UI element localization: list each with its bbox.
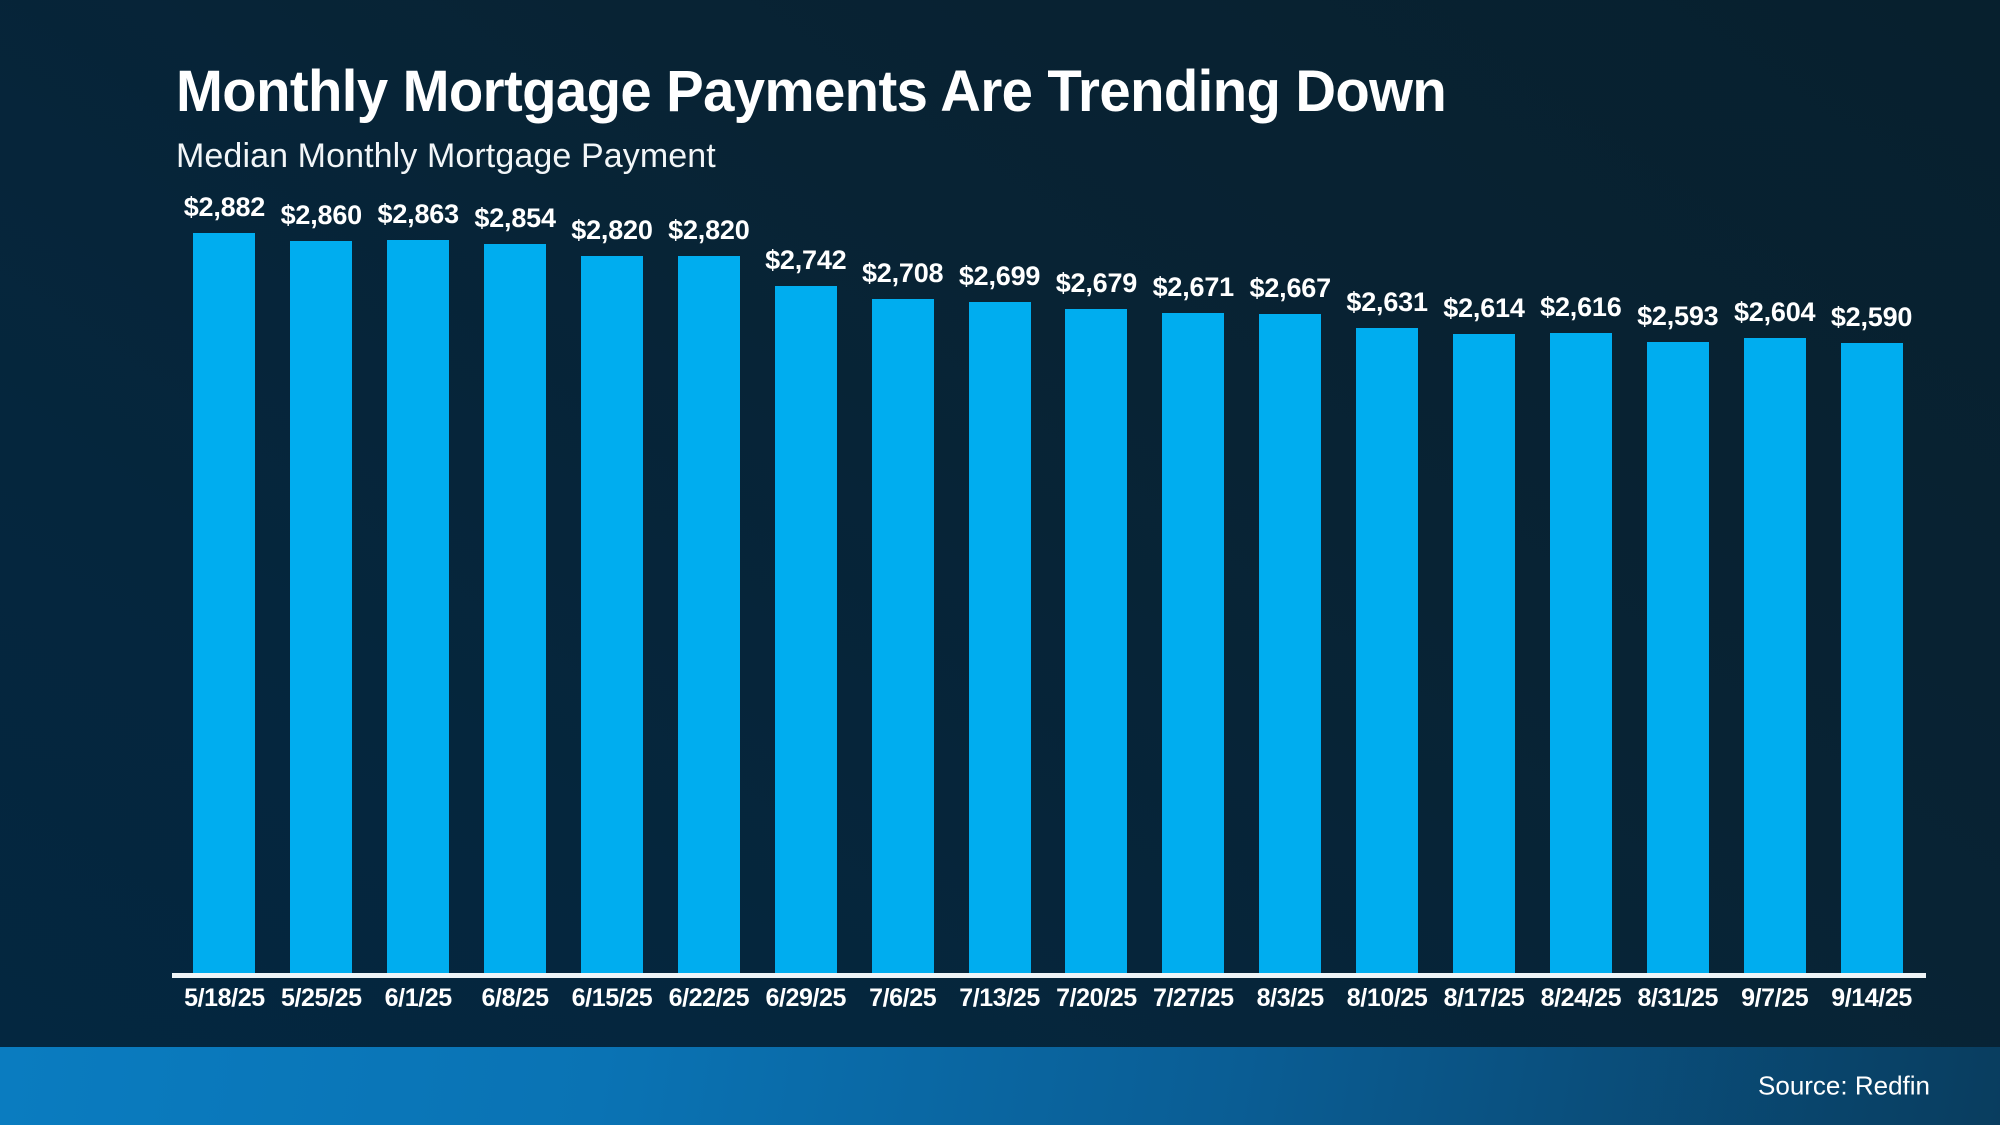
x-axis-line — [172, 973, 1926, 978]
bar[interactable] — [1744, 338, 1806, 975]
bar[interactable] — [969, 302, 1031, 975]
bar[interactable] — [1162, 313, 1224, 976]
bar-value-label: $2,742 — [765, 245, 846, 276]
bar-value-label: $2,679 — [1056, 268, 1137, 299]
bar-value-label: $2,604 — [1734, 297, 1815, 328]
bar-value-label: $2,590 — [1831, 302, 1912, 333]
bar-group: $2,667 — [1242, 255, 1339, 975]
bar[interactable] — [484, 244, 546, 975]
bar-group: $2,590 — [1823, 255, 1920, 975]
bar-group: $2,604 — [1726, 255, 1823, 975]
x-tick-label: 7/6/25 — [854, 984, 951, 1013]
bar-group: $2,671 — [1145, 255, 1242, 975]
bar-value-label: $2,631 — [1346, 287, 1427, 318]
bar-value-label: $2,671 — [1153, 272, 1234, 303]
bar-group: $2,699 — [951, 255, 1048, 975]
x-tick-label: 6/8/25 — [467, 984, 564, 1013]
bar-value-label: $2,860 — [281, 200, 362, 231]
bar-group: $2,614 — [1436, 255, 1533, 975]
bar-value-label: $2,616 — [1540, 292, 1621, 323]
bar[interactable] — [193, 233, 255, 975]
page-subtitle: Median Monthly Mortgage Payment — [176, 137, 1876, 176]
bar-group: $2,631 — [1339, 255, 1436, 975]
x-tick-label: 6/29/25 — [757, 984, 854, 1013]
bar[interactable] — [872, 299, 934, 975]
bar-value-label: $2,593 — [1637, 301, 1718, 332]
bar-group: $2,863 — [370, 255, 467, 975]
footer-bar: Source: Redfin — [0, 1047, 2000, 1125]
bar-group: $2,616 — [1532, 255, 1629, 975]
bar-value-label: $2,667 — [1250, 273, 1331, 304]
x-tick-label: 5/25/25 — [273, 984, 370, 1013]
bar[interactable] — [581, 256, 643, 975]
x-tick-label: 8/31/25 — [1629, 984, 1726, 1013]
x-tick-label: 7/20/25 — [1048, 984, 1145, 1013]
x-tick-label: 8/24/25 — [1532, 984, 1629, 1013]
bar-value-label: $2,820 — [571, 215, 652, 246]
x-tick-label: 7/13/25 — [951, 984, 1048, 1013]
bar-group: $2,820 — [660, 255, 757, 975]
bar-value-label: $2,708 — [862, 258, 943, 289]
bar-group: $2,593 — [1629, 255, 1726, 975]
bar-chart-plot-area: $2,882$2,860$2,863$2,854$2,820$2,820$2,7… — [176, 255, 1920, 975]
bar[interactable] — [1841, 343, 1903, 975]
x-tick-label: 7/27/25 — [1145, 984, 1242, 1013]
bar-group: $2,882 — [176, 255, 273, 975]
bar-value-label: $2,820 — [668, 215, 749, 246]
bar-group: $2,820 — [564, 255, 661, 975]
x-tick-label: 6/22/25 — [660, 984, 757, 1013]
bar-value-label: $2,863 — [378, 199, 459, 230]
bar-group: $2,860 — [273, 255, 370, 975]
x-tick-label: 9/7/25 — [1726, 984, 1823, 1013]
x-tick-label: 8/17/25 — [1436, 984, 1533, 1013]
x-tick-label: 8/10/25 — [1339, 984, 1436, 1013]
page-title: Monthly Mortgage Payments Are Trending D… — [176, 62, 1825, 122]
x-tick-label: 8/3/25 — [1242, 984, 1339, 1013]
bar-group: $2,742 — [757, 255, 854, 975]
bar-value-label: $2,882 — [184, 192, 265, 223]
bar[interactable] — [387, 240, 449, 975]
x-tick-label: 6/1/25 — [370, 984, 467, 1013]
bar-value-label: $2,699 — [959, 261, 1040, 292]
bar[interactable] — [1356, 328, 1418, 975]
bar-group: $2,854 — [467, 255, 564, 975]
bar[interactable] — [1065, 309, 1127, 975]
x-tick-label: 9/14/25 — [1823, 984, 1920, 1013]
chart-header: Monthly Mortgage Payments Are Trending D… — [176, 62, 1876, 176]
bar-group: $2,708 — [854, 255, 951, 975]
chart-slide: Monthly Mortgage Payments Are Trending D… — [0, 0, 2000, 1125]
bar-value-label: $2,614 — [1443, 293, 1524, 324]
source-attribution: Source: Redfin — [1758, 1071, 1930, 1102]
bar[interactable] — [1647, 342, 1709, 975]
bar[interactable] — [1453, 334, 1515, 975]
bar-group: $2,679 — [1048, 255, 1145, 975]
bar[interactable] — [1550, 333, 1612, 975]
x-tick-label: 5/18/25 — [176, 984, 273, 1013]
bar[interactable] — [678, 256, 740, 975]
x-tick-label: 6/15/25 — [564, 984, 661, 1013]
bar[interactable] — [290, 241, 352, 975]
bar-value-label: $2,854 — [474, 203, 555, 234]
bar[interactable] — [775, 286, 837, 975]
x-axis-tick-labels: 5/18/255/25/256/1/256/8/256/15/256/22/25… — [176, 984, 1920, 1028]
bar[interactable] — [1259, 314, 1321, 975]
